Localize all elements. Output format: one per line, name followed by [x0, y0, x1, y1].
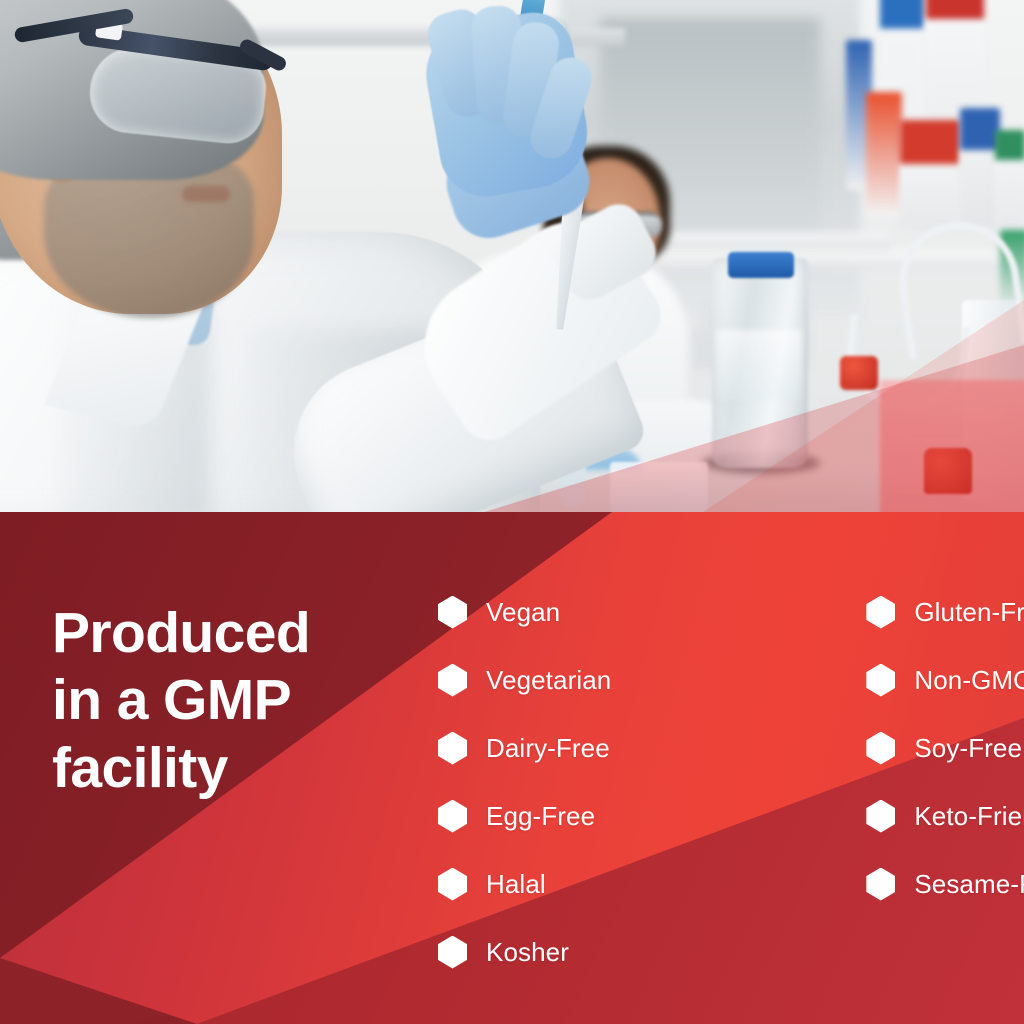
list-item: Gluten-Free [866, 578, 1024, 646]
hexagon-bullet-icon [438, 664, 467, 697]
list-item: Soy-Free [866, 714, 1024, 782]
red-bottle-cap-1 [924, 448, 972, 494]
list-item: Halal [438, 850, 611, 918]
claims-column-right: Gluten-Free Non-GMO Soy-Free Keto-Friend… [866, 578, 1024, 986]
glass-beaker [610, 462, 708, 514]
hexagon-bullet-icon [866, 596, 895, 629]
hexagon-bullet-icon [438, 868, 467, 901]
headline-line-1: Produced [52, 600, 452, 667]
red-bottle-cap-2 [840, 356, 878, 390]
claim-label: Halal [486, 869, 546, 900]
claim-label: Dairy-Free [486, 733, 610, 764]
reagent-box-6 [960, 108, 1000, 228]
claim-label: Keto-Friendly [914, 801, 1024, 832]
scientist-mouth [182, 186, 230, 202]
hexagon-bullet-icon [438, 596, 467, 629]
lab-photo [0, 0, 1024, 514]
hexagon-bullet-icon [438, 936, 467, 969]
list-item: Dairy-Free [438, 714, 611, 782]
claim-label: Kosher [486, 937, 569, 968]
reagent-box-4 [866, 92, 902, 217]
claim-label: Sesame-Free [914, 869, 1024, 900]
claim-label: Gluten-Free [914, 597, 1024, 628]
list-item: Vegan [438, 578, 611, 646]
claims-column-left: Vegan Vegetarian Dairy-Free Egg-Free Hal… [438, 578, 611, 986]
list-item: Vegetarian [438, 646, 611, 714]
hexagon-bullet-icon [438, 732, 467, 765]
list-item: Keto-Friendly [866, 782, 1024, 850]
bottle-label [716, 330, 802, 400]
hexagon-bullet-icon [438, 800, 467, 833]
blue-bottle-cap [728, 252, 794, 278]
hexagon-bullet-icon [866, 868, 895, 901]
reagent-box-5 [900, 120, 960, 230]
promo-graphic: Produced in a GMP facility Vegan Vegetar… [0, 0, 1024, 1024]
hexagon-bullet-icon [866, 664, 895, 697]
list-item: Kosher [438, 918, 611, 986]
hexagon-bullet-icon [866, 800, 895, 833]
list-item: Egg-Free [438, 782, 611, 850]
list-item: Sesame-Free [866, 850, 1024, 918]
claim-label: Vegan [486, 597, 560, 628]
claim-label: Vegetarian [486, 665, 611, 696]
headline-line-2: in a GMP [52, 667, 452, 734]
headline-line-3: facility [52, 735, 452, 802]
claims-list: Vegan Vegetarian Dairy-Free Egg-Free Hal… [438, 578, 1024, 986]
claim-label: Soy-Free [914, 733, 1022, 764]
claim-label: Non-GMO [914, 665, 1024, 696]
claim-label: Egg-Free [486, 801, 595, 832]
page-title: Produced in a GMP facility [52, 600, 452, 802]
hexagon-bullet-icon [866, 732, 895, 765]
list-item: Non-GMO [866, 646, 1024, 714]
